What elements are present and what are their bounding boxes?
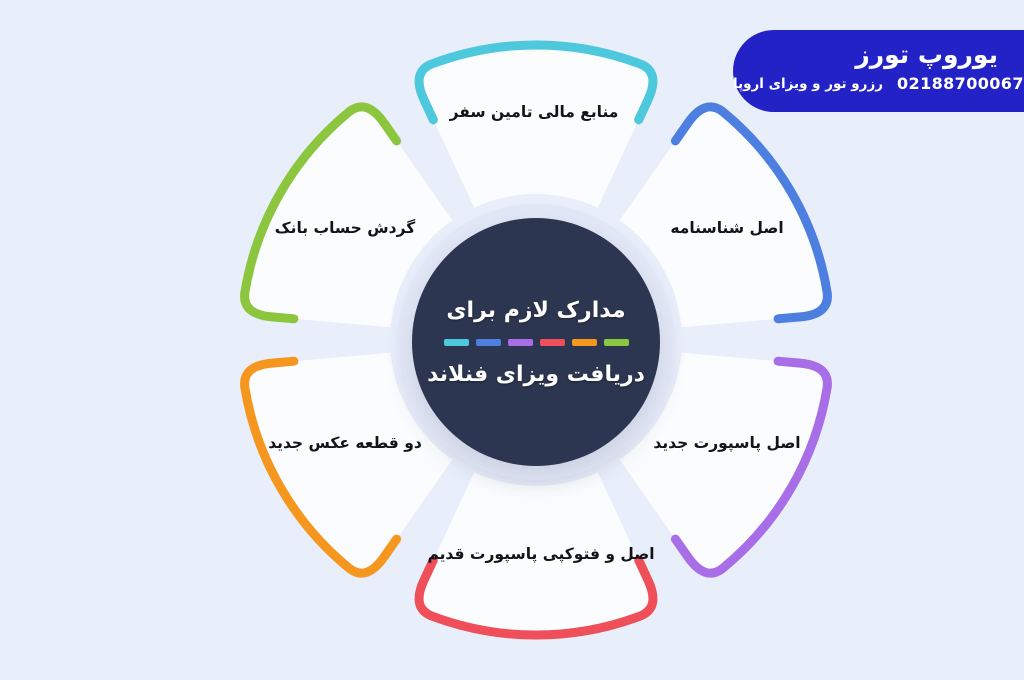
petal-label-bottom: اصل و فتوکپی پاسپورت قدیم: [427, 545, 654, 563]
brand-name: یوروپ تورز: [733, 39, 1004, 70]
brand-logo-badge[interactable]: یوروپ تورز رزرو تور و ویزای اروپا 021887…: [733, 30, 1024, 112]
center-title-line1: مدارک لازم برای: [446, 298, 625, 323]
petal-label-top-right: اصل شناسنامه: [670, 219, 783, 237]
petal-top[interactable]: [419, 45, 653, 208]
petal-top-right[interactable]: [620, 107, 828, 327]
divider-swatch-cyan: [444, 339, 469, 346]
divider-swatch-blue: [476, 339, 501, 346]
divider-swatch-orange: [572, 339, 597, 346]
petal-label-bottom-left: دو قطعه عکس جدید: [268, 434, 422, 452]
center-hub: مدارک لازم برای دریافت ویزای فنلاند: [412, 218, 660, 466]
petal-label-bottom-right: اصل پاسپورت جدید: [653, 434, 800, 452]
petal-label-top-left: گردش حساب بانک: [275, 219, 415, 237]
center-title-line2: دریافت ویزای فنلاند: [427, 362, 645, 387]
petal-label-top: منابع مالی تامین سفر: [450, 103, 619, 121]
brand-subrow: رزرو تور و ویزای اروپا 02188700067: [733, 74, 1004, 93]
divider-swatch-purple: [508, 339, 533, 346]
divider-swatch-green: [604, 339, 629, 346]
infographic-canvas: منابع مالی تامین سفراصل شناسنامهاصل پاسپ…: [0, 0, 1024, 680]
brand-phone[interactable]: 02188700067: [897, 74, 1024, 93]
divider-swatch-red: [540, 339, 565, 346]
brand-tagline: رزرو تور و ویزای اروپا: [733, 76, 883, 92]
center-divider: [444, 339, 629, 346]
